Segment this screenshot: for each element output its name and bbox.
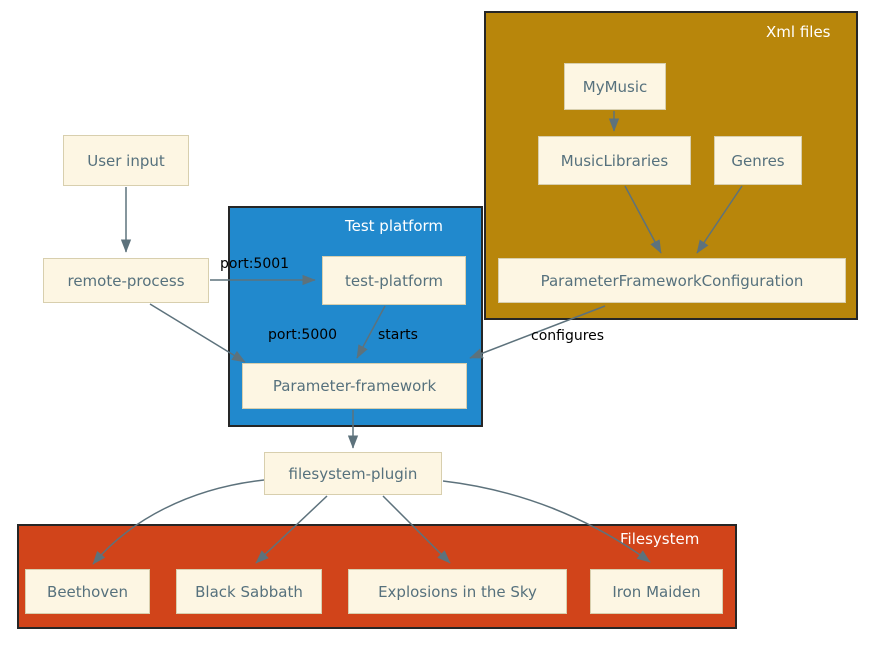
node-genres[interactable]: Genres: [714, 136, 802, 185]
cluster-test-platform-label: Test platform: [345, 219, 443, 234]
node-parameter-framework-configuration-label: ParameterFrameworkConfiguration: [541, 272, 804, 290]
node-genres-label: Genres: [731, 152, 784, 170]
node-remote-process[interactable]: remote-process: [43, 258, 209, 303]
node-beethoven-label: Beethoven: [47, 583, 128, 601]
diagram-canvas: Xml files Test platform Filesystem: [0, 0, 871, 645]
node-test-platform[interactable]: test-platform: [322, 256, 466, 305]
node-mymusic-label: MyMusic: [583, 78, 648, 96]
node-parameter-framework-label: Parameter-framework: [273, 377, 436, 395]
edge-label-port-5000: port:5000: [268, 328, 337, 342]
node-explosions-in-the-sky-label: Explosions in the Sky: [378, 583, 537, 601]
node-user-input-label: User input: [87, 152, 165, 170]
node-parameter-framework[interactable]: Parameter-framework: [242, 363, 467, 409]
node-musiclibraries[interactable]: MusicLibraries: [538, 136, 691, 185]
node-filesystem-plugin[interactable]: filesystem-plugin: [264, 452, 442, 495]
cluster-filesystem-label: Filesystem: [620, 532, 699, 547]
node-explosions-in-the-sky[interactable]: Explosions in the Sky: [348, 569, 567, 614]
node-musiclibraries-label: MusicLibraries: [561, 152, 668, 170]
node-beethoven[interactable]: Beethoven: [25, 569, 150, 614]
node-test-platform-label: test-platform: [345, 272, 443, 290]
edge-label-starts: starts: [378, 328, 418, 342]
node-filesystem-plugin-label: filesystem-plugin: [289, 465, 418, 483]
node-iron-maiden-label: Iron Maiden: [612, 583, 700, 601]
node-iron-maiden[interactable]: Iron Maiden: [590, 569, 723, 614]
edge-label-port-5001: port:5001: [220, 257, 289, 271]
edge-label-configures: configures: [531, 329, 604, 343]
node-parameter-framework-configuration[interactable]: ParameterFrameworkConfiguration: [498, 258, 846, 303]
cluster-xml-files-label: Xml files: [766, 25, 830, 40]
node-black-sabbath[interactable]: Black Sabbath: [176, 569, 322, 614]
node-user-input[interactable]: User input: [63, 135, 189, 186]
node-black-sabbath-label: Black Sabbath: [195, 583, 303, 601]
node-mymusic[interactable]: MyMusic: [564, 63, 666, 110]
node-remote-process-label: remote-process: [67, 272, 184, 290]
